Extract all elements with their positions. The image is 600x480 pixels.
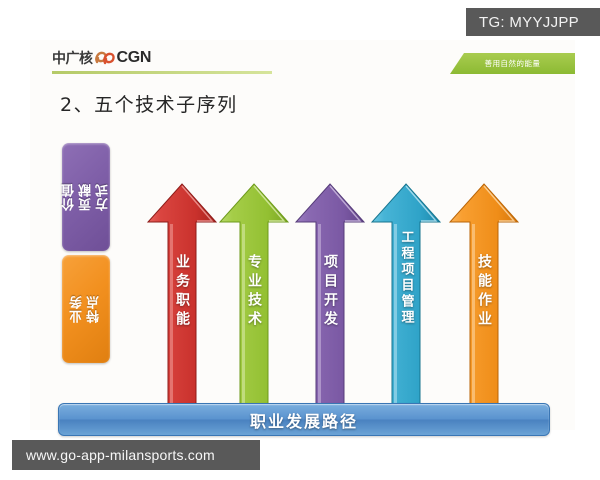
slide-canvas: 中广核 CGN 善用自然的能量 2、五个技术子序列 价值 贡献 方式 (30, 40, 575, 430)
career-path-base-label: 职业发展路径 (250, 408, 358, 432)
arrow-label-wrap: 业务职能 (144, 254, 220, 330)
business-feature-label: 业务 特点 (69, 295, 103, 323)
logo-english-text: CGN (117, 49, 152, 67)
arrow-business-function: 业务职能 (144, 182, 220, 410)
arrow-label-wrap: 技能作业 (446, 254, 522, 330)
arrow-project-development: 项目开发 (292, 182, 368, 410)
header-ribbon: 善用自然的能量 (450, 53, 575, 74)
arrow-professional-technology-label: 专业技术 (244, 254, 264, 330)
cgn-swirl-icon (94, 49, 116, 67)
header-divider (52, 71, 272, 74)
tg-tag-overlay: TG: MYYJJPP (466, 8, 600, 36)
career-path-base-bar: 职业发展路径 (58, 403, 550, 436)
arrow-project-development-label: 项目开发 (320, 254, 340, 330)
value-contribution-label: 价值 贡献 方式 (61, 183, 112, 211)
arrow-skill-operation-label: 技能作业 (474, 254, 494, 330)
arrow-engineering-project-management-label: 工程项目管理 (397, 230, 416, 326)
header-ribbon-text: 善用自然的能量 (485, 58, 541, 68)
career-path-diagram: 价值 贡献 方式 业务 特点 (30, 135, 575, 410)
business-feature-block: 业务 特点 (62, 255, 110, 363)
site-watermark: www.go-app-milansports.com (12, 440, 260, 470)
arrow-business-function-label: 业务职能 (172, 254, 192, 330)
arrow-skill-operation: 技能作业 (446, 182, 522, 410)
page-title: 2、五个技术子序列 (60, 90, 238, 117)
cgn-logo: 中广核 CGN (52, 48, 151, 68)
arrow-professional-technology: 专业技术 (216, 182, 292, 410)
value-contribution-block: 价值 贡献 方式 (62, 143, 110, 251)
arrow-engineering-project-management: 工程项目管理 (368, 182, 444, 410)
slide-header: 中广核 CGN 善用自然的能量 (30, 40, 575, 82)
arrow-label-wrap: 专业技术 (216, 254, 292, 330)
arrow-label-wrap: 工程项目管理 (368, 230, 444, 326)
arrow-label-wrap: 项目开发 (292, 254, 368, 330)
screenshot-root: TG: MYYJJPP 中广核 CGN 善用自然的能量 2、五个技术子序列 (0, 0, 600, 480)
logo-chinese-text: 中广核 (52, 48, 93, 68)
